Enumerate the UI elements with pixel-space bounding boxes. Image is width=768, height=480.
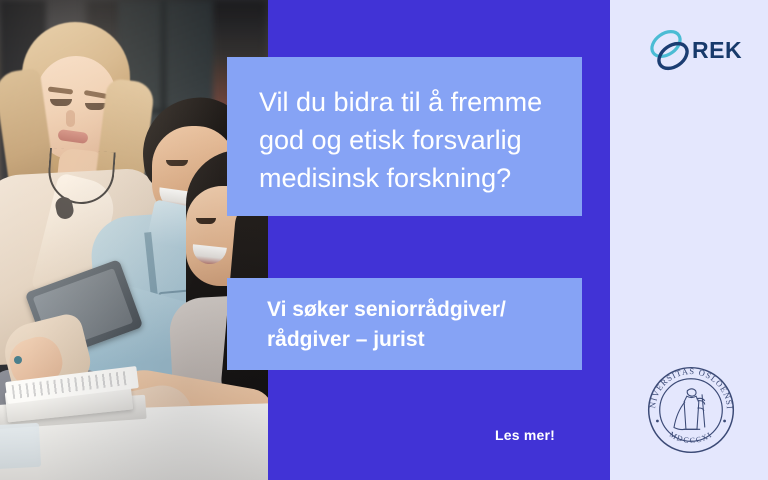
- university-seal-icon: UNIVERSITAS OSLOENSIS MDCCCXI: [645, 364, 737, 456]
- rek-logo: REK: [648, 26, 744, 74]
- svg-text:MDCCCXI: MDCCCXI: [668, 430, 714, 445]
- job-title-text: Vi søker seniorrådgiver/ rådgiver – juri…: [267, 295, 558, 355]
- recruitment-banner: REK UNIVERSITAS OSLOENSIS MDCCCXI: [0, 0, 768, 480]
- rek-wordmark: REK: [692, 39, 742, 62]
- headline-box: Vil du bidra til å fremme god og etisk f…: [227, 57, 582, 216]
- interlocking-rings-icon: [648, 27, 692, 73]
- job-title-box: Vi søker seniorrådgiver/ rådgiver – juri…: [227, 278, 582, 370]
- read-more-link[interactable]: Les mer!: [440, 427, 610, 443]
- headline-text: Vil du bidra til å fremme god og etisk f…: [259, 83, 552, 197]
